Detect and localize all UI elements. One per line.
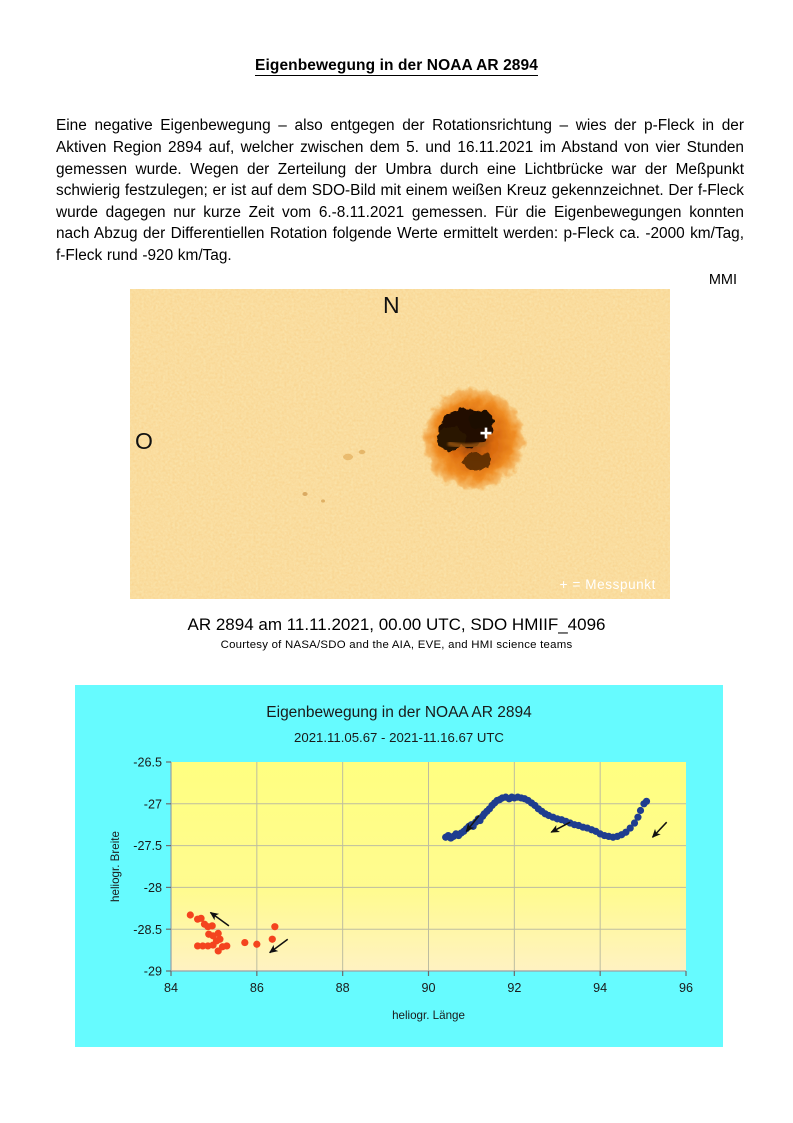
page-title-text: Eigenbewegung in der NOAA AR 2894: [255, 57, 538, 76]
y-axis-title: heliogr. Breite: [109, 831, 122, 902]
y-axis-tick-label: -26.5: [133, 756, 162, 770]
y-axis-tick-label: -27.5: [133, 839, 162, 853]
x-axis-tick-label: 84: [164, 981, 178, 995]
document-page: Eigenbewegung in der NOAA AR 2894 Eine n…: [0, 0, 793, 1123]
data-point: [209, 922, 216, 929]
data-point: [634, 814, 641, 821]
x-axis-title: heliogr. Länge: [392, 1009, 465, 1022]
data-point: [241, 939, 248, 946]
data-point: [253, 941, 260, 948]
data-point: [269, 936, 276, 943]
data-point: [637, 807, 644, 814]
y-axis-title-group: heliogr. Breite: [109, 831, 122, 902]
figure-caption: AR 2894 am 11.11.2021, 00.00 UTC, SDO HM…: [0, 615, 793, 635]
author-initials: MMI: [0, 272, 737, 288]
y-axis-tick-label: -28.5: [133, 923, 162, 937]
y-axis-tick-label: -28: [144, 881, 162, 895]
x-axis-tick-label: 94: [593, 981, 607, 995]
x-axis-tick-label: 90: [421, 981, 435, 995]
solar-image: N O + = Messpunkt: [130, 289, 670, 599]
direction-label-east: O: [135, 430, 153, 453]
page-title: Eigenbewegung in der NOAA AR 2894: [0, 57, 793, 75]
direction-label-north: N: [383, 294, 400, 317]
figure-credit: Courtesy of NASA/SDO and the AIA, EVE, a…: [0, 639, 793, 651]
y-axis-tick-label: -29: [144, 965, 162, 979]
x-axis-tick-label: 86: [250, 981, 264, 995]
data-point: [223, 942, 230, 949]
data-point: [216, 936, 223, 943]
data-point: [643, 798, 650, 805]
body-paragraph: Eine negative Eigenbewegung – also entge…: [56, 115, 744, 266]
sdo-hmi-continuum-image: [130, 289, 670, 599]
messpunkt-legend: + = Messpunkt: [560, 578, 656, 592]
chart-plot-svg: -26.5-27-27.5-28-28.5-2984868890929496he…: [75, 685, 723, 1047]
y-axis-tick-label: -27: [144, 797, 162, 811]
x-axis-tick-label: 96: [679, 981, 693, 995]
x-axis-tick-label: 88: [336, 981, 350, 995]
data-point: [187, 911, 194, 918]
proper-motion-chart: Eigenbewegung in der NOAA AR 2894 2021.1…: [75, 685, 723, 1047]
x-axis-tick-label: 92: [507, 981, 521, 995]
data-point: [271, 923, 278, 930]
